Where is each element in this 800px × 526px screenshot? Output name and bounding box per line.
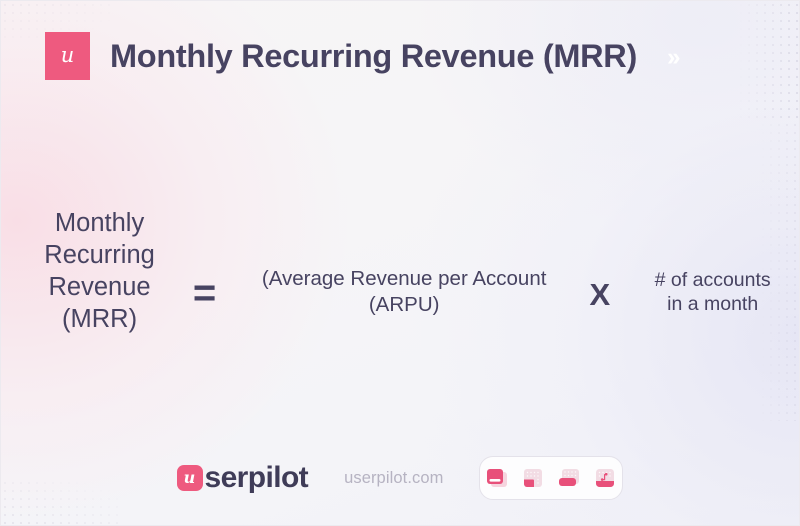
wordmark-label: serpilot — [205, 461, 309, 495]
userpilot-wordmark: u serpilot — [177, 461, 309, 495]
site-url-label: userpilot.com — [344, 469, 443, 488]
formula-right-line-2: in a month — [626, 292, 799, 317]
equals-operator: = — [174, 273, 235, 313]
formula-row: Monthly Recurring Revenue (MRR) = (Avera… — [1, 207, 799, 336]
formula-right-line-1: # of accounts — [626, 268, 799, 293]
slideout-pattern-icon — [521, 466, 545, 490]
banner-pattern-icon — [557, 466, 581, 490]
infographic-canvas: u Monthly Recurring Revenue (MRR) ›› Mon… — [0, 0, 800, 526]
header: u Monthly Recurring Revenue (MRR) ›› — [45, 32, 678, 80]
checklist-pattern-icon — [593, 466, 617, 490]
modal-pattern-icon — [485, 466, 509, 490]
footer: u serpilot userpilot.com — [1, 453, 799, 503]
formula-right-term: # of accounts in a month — [626, 268, 799, 317]
userpilot-u-badge-icon-small: u — [177, 465, 203, 491]
formula-left-line-2: Recurring — [25, 239, 174, 271]
wordmark-badge-letter: u — [184, 470, 196, 487]
multiply-operator: X — [573, 279, 626, 310]
formula-left-line-3: Revenue — [25, 271, 174, 303]
logo-badge-letter: u — [61, 45, 75, 68]
double-chevron-right-icon: ›› — [667, 43, 678, 72]
formula-left-line-4: (MRR) — [25, 303, 174, 335]
page-title: Monthly Recurring Revenue (MRR) — [110, 38, 637, 75]
formula-left-term: Monthly Recurring Revenue (MRR) — [25, 207, 174, 336]
halftone-texture-top-right — [737, 1, 799, 121]
formula-middle-term: (Average Revenue per Account (ARPU) — [235, 266, 573, 318]
formula-left-line-1: Monthly — [25, 207, 174, 239]
formula-middle-line-2: (ARPU) — [235, 292, 573, 318]
formula-middle-line-1: (Average Revenue per Account — [235, 266, 573, 292]
ui-pattern-icon-group — [479, 456, 623, 500]
userpilot-u-badge-icon: u — [45, 32, 90, 80]
